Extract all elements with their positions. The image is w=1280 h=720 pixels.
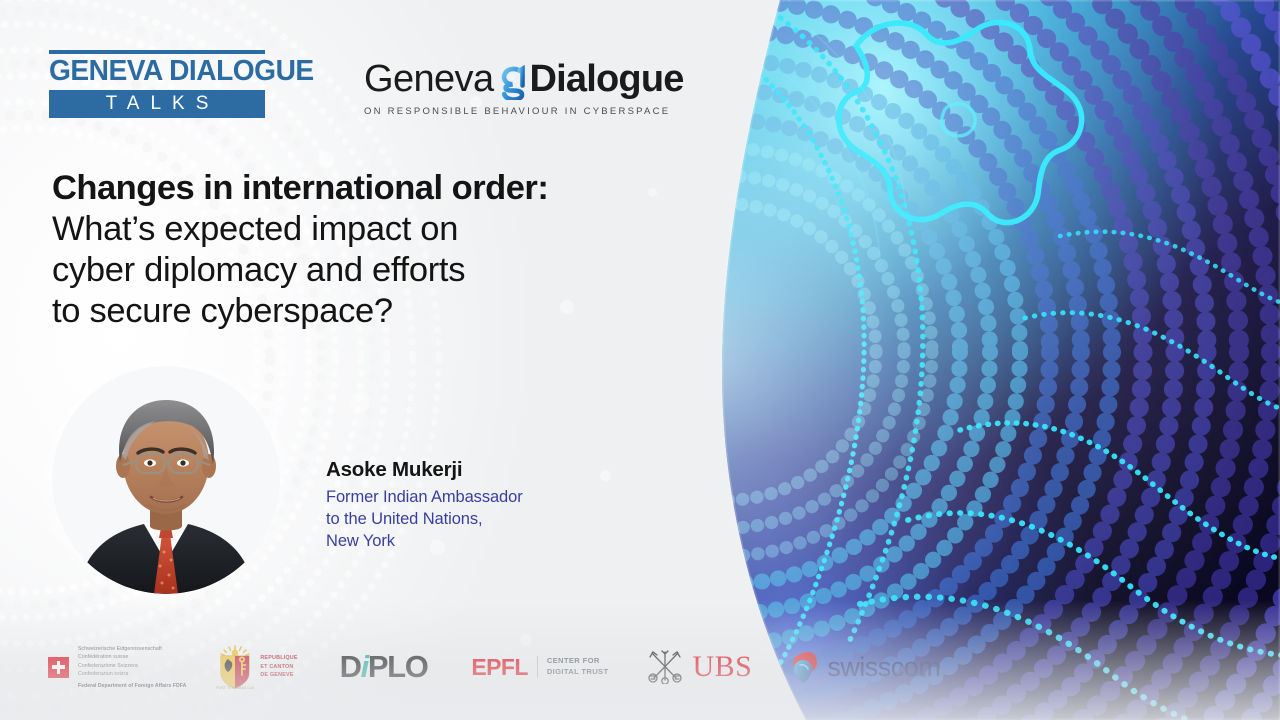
speaker-role: Former Indian Ambassador to the United N… <box>326 487 656 553</box>
geneva-dialogue-wordmark: Geneva Dialogue ON RESPONSI <box>364 58 664 117</box>
geneva-dialogue-talks-logo: GENEVA DIALOGUE TALKS <box>49 50 265 118</box>
slide-title: Changes in international order: What’s e… <box>52 168 692 332</box>
title-line-1: Changes in international order: <box>52 168 692 209</box>
speaker-portrait-avatar <box>52 366 280 594</box>
geneva-dialogue-g-icon <box>499 64 527 100</box>
title-line-4: to secure cyberspace? <box>52 291 692 332</box>
title-line-2: What’s expected impact on <box>52 209 692 250</box>
title-line-3: cyber diplomacy and efforts <box>52 250 692 291</box>
talks-logo-bar: TALKS <box>49 90 265 118</box>
speaker-role-line-2: to the United Nations, <box>326 509 656 531</box>
talks-logo-bar-text: TALKS <box>95 93 220 115</box>
talks-logo-word: GENEVA DIALOGUE <box>49 54 259 87</box>
speaker-info: Asoke Mukerji Former Indian Ambassador t… <box>326 458 656 553</box>
speaker-role-line-1: Former Indian Ambassador <box>326 487 656 509</box>
speaker-name: Asoke Mukerji <box>326 458 656 482</box>
presentation-slide: GENEVA DIALOGUE TALKS Geneva <box>0 0 1280 720</box>
wordmark-geneva: Geneva <box>364 58 494 101</box>
bottom-vignette <box>0 600 1280 720</box>
wordmark-dialogue: Dialogue <box>530 58 684 101</box>
wordmark-tagline: ON RESPONSIBLE BEHAVIOUR IN CYBERSPACE <box>364 106 664 117</box>
speaker-role-line-3: New York <box>326 531 656 553</box>
